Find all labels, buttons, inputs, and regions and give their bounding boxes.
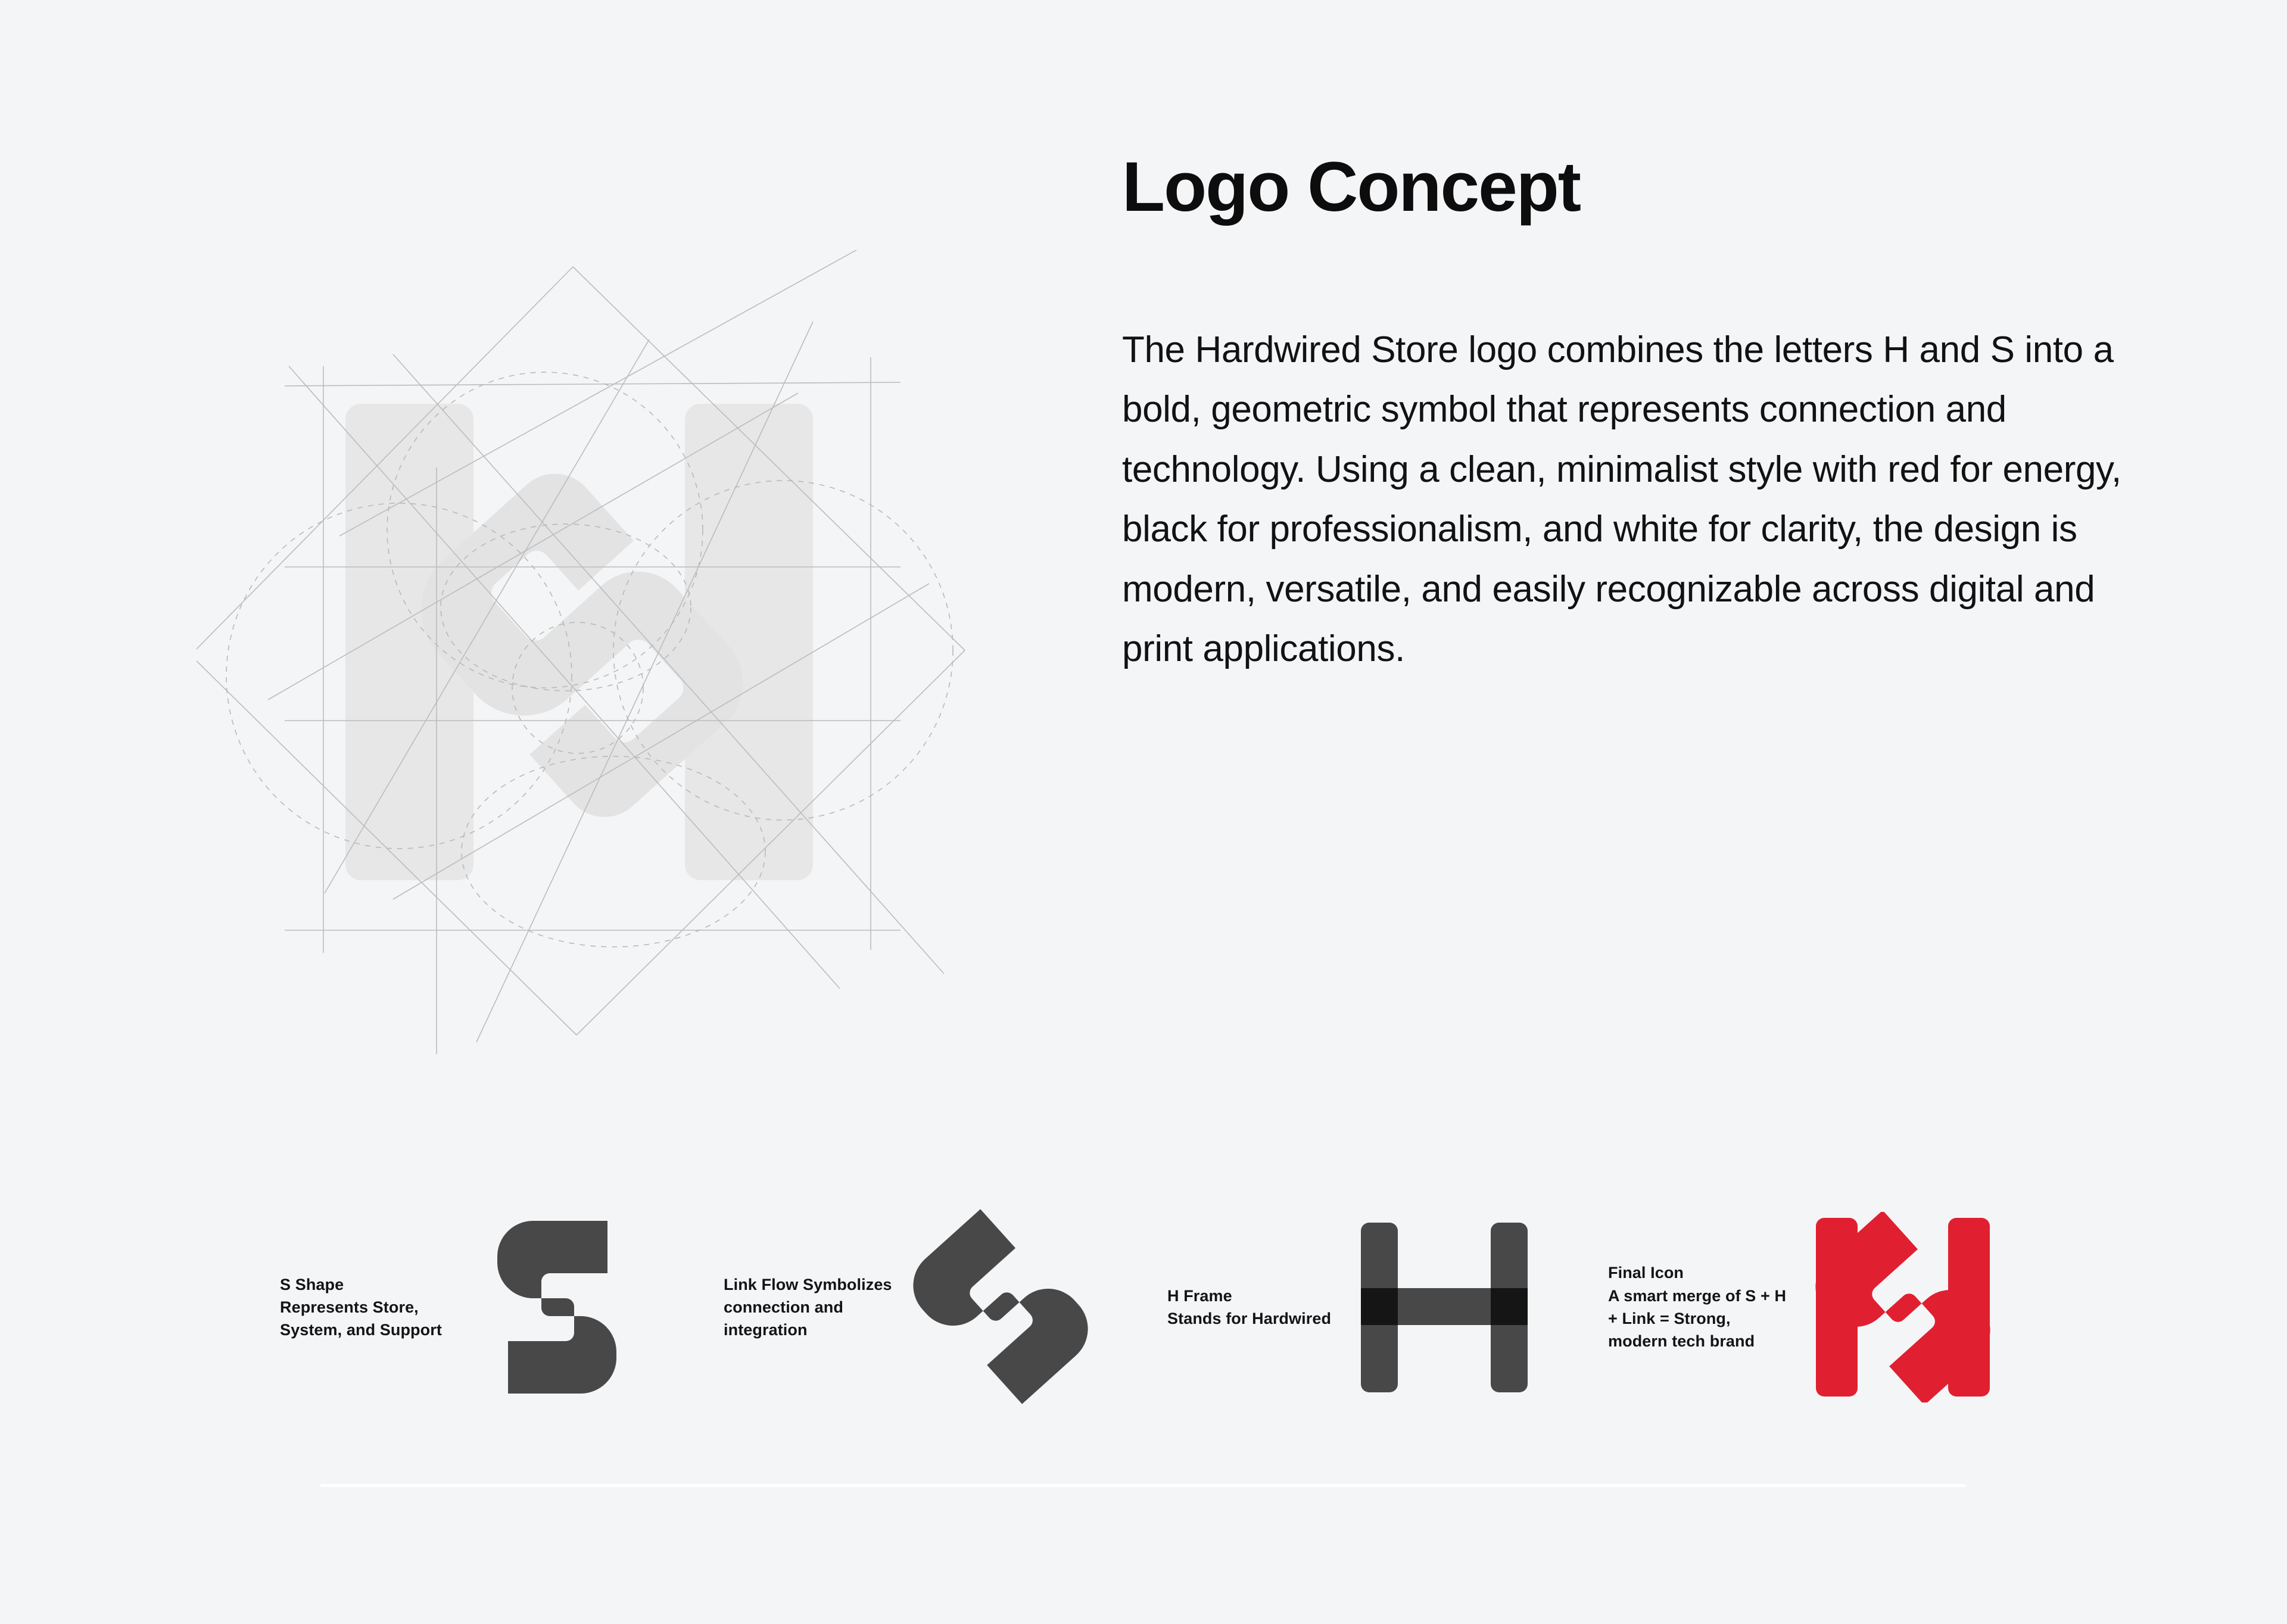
evolution-caption: H Frame Stands for Hardwired [1167, 1285, 1346, 1330]
concept-description: The Hardwired Store logo combines the le… [1122, 222, 2123, 679]
evolution-step-link-flow: Link Flow Symbolizes connection and inte… [724, 1182, 1164, 1432]
evolution-step-s-shape: S Shape Represents Store, System, and Su… [280, 1182, 721, 1432]
s-shape-mark [459, 1209, 655, 1405]
evolution-caption: Final Icon A smart merge of S + H + Link… [1608, 1261, 1805, 1352]
footer-divider [320, 1484, 1965, 1487]
page-title: Logo Concept [1122, 152, 2170, 222]
evolution-caption: Link Flow Symbolizes connection and inte… [724, 1273, 902, 1342]
logo-concept-board: Logo Concept The Hardwired Store logo co… [0, 0, 2287, 1624]
evolution-caption: S Shape Represents Store, System, and Su… [280, 1273, 459, 1342]
evolution-step-h-frame: H Frame Stands for Hardwired [1167, 1182, 1608, 1432]
evolution-step-final-icon: Final Icon A smart merge of S + H + Link… [1608, 1182, 2061, 1432]
h-frame-mark [1346, 1209, 1543, 1405]
logo-evolution-strip: S Shape Represents Store, System, and Su… [0, 1182, 2287, 1432]
copy-column: Logo Concept The Hardwired Store logo co… [1122, 152, 2170, 679]
logo-construction-grid [197, 250, 1030, 1054]
link-flow-mark [902, 1209, 1099, 1405]
final-icon-mark [1805, 1209, 2001, 1405]
